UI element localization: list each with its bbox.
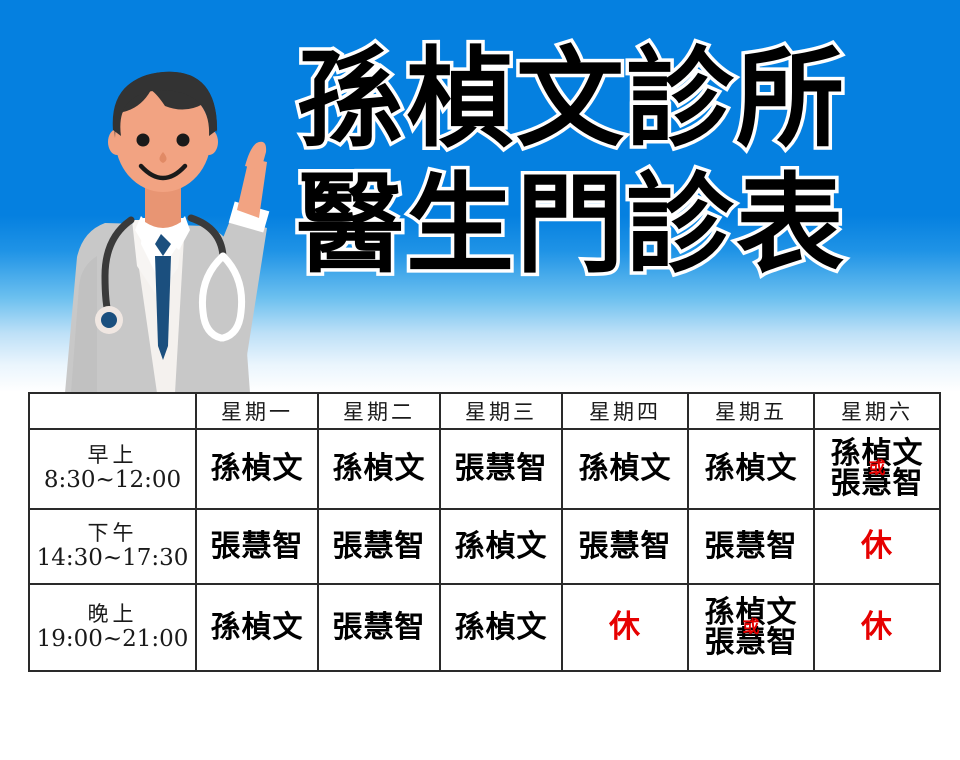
cell-morning-tue: 孫楨文 xyxy=(318,429,440,509)
poster-title: 孫楨文診所 孫楨文診所 醫生門診表 醫生門診表 xyxy=(296,46,936,280)
header-day-wed: 星期三 xyxy=(440,393,562,429)
cell-afternoon-tue: 張慧智 xyxy=(318,509,440,584)
cell-afternoon-wed: 孫楨文 xyxy=(440,509,562,584)
dual-name-group: 孫楨文 或 張慧智 xyxy=(831,438,924,500)
head-group xyxy=(108,72,218,192)
header-day-thu: 星期四 xyxy=(562,393,688,429)
period-label-night: 晚上 xyxy=(30,602,195,626)
cell-morning-fri: 孫楨文 xyxy=(688,429,814,509)
cell-night-mon: 孫楨文 xyxy=(196,584,318,671)
header-day-fri: 星期五 xyxy=(688,393,814,429)
stethoscope-chestpiece-inner xyxy=(101,312,117,328)
header-day-mon: 星期一 xyxy=(196,393,318,429)
title-line-1-text: 孫楨文診所 xyxy=(296,37,846,162)
title-line-2: 醫生門診表 醫生門診表 xyxy=(296,172,936,280)
cell-night-thu: 休 xyxy=(562,584,688,671)
cell-night-tue: 張慧智 xyxy=(318,584,440,671)
title-line-1: 孫楨文診所 孫楨文診所 xyxy=(296,46,936,154)
cell-morning-mon: 孫楨文 xyxy=(196,429,318,509)
cell-morning-thu: 孫楨文 xyxy=(562,429,688,509)
period-label-afternoon: 下午 xyxy=(30,521,195,545)
cell-morning-wed: 張慧智 xyxy=(440,429,562,509)
schedule-table: 星期一 星期二 星期三 星期四 星期五 星期六 早上 8:30~12:00 孫楨… xyxy=(28,392,941,672)
cell-morning-sat: 孫楨文 或 張慧智 xyxy=(814,429,940,509)
or-label: 或 xyxy=(743,619,760,636)
cell-afternoon-sat: 休 xyxy=(814,509,940,584)
period-cell-morning: 早上 8:30~12:00 xyxy=(29,429,196,509)
eye-right xyxy=(177,134,190,147)
table-row-afternoon: 下午 14:30~17:30 張慧智 張慧智 孫楨文 張慧智 張慧智 休 xyxy=(29,509,940,584)
or-label: 或 xyxy=(869,461,886,478)
cell-night-sat: 休 xyxy=(814,584,940,671)
period-time-morning: 8:30~12:00 xyxy=(30,467,195,495)
dual-name-group: 孫楨文 或 張慧智 xyxy=(705,597,798,659)
period-time-afternoon: 14:30~17:30 xyxy=(30,545,195,573)
cell-afternoon-fri: 張慧智 xyxy=(688,509,814,584)
cell-afternoon-thu: 張慧智 xyxy=(562,509,688,584)
period-time-night: 19:00~21:00 xyxy=(30,626,195,654)
rest-label: 休 xyxy=(861,528,893,564)
period-cell-afternoon: 下午 14:30~17:30 xyxy=(29,509,196,584)
table-row-morning: 早上 8:30~12:00 孫楨文 孫楨文 張慧智 孫楨文 孫楨文 孫楨文 或 … xyxy=(29,429,940,509)
header-corner-blank xyxy=(29,393,196,429)
schedule-table-wrapper: 星期一 星期二 星期三 星期四 星期五 星期六 早上 8:30~12:00 孫楨… xyxy=(28,392,932,672)
rest-label: 休 xyxy=(861,609,893,645)
poster-canvas: 孫楨文診所 孫楨文診所 醫生門診表 醫生門診表 星期一 星期二 星期三 xyxy=(0,0,960,760)
header-day-sat: 星期六 xyxy=(814,393,940,429)
title-line-2-text: 醫生門診表 xyxy=(296,163,846,288)
eye-left xyxy=(137,134,150,147)
doctor-illustration xyxy=(35,38,335,393)
table-row-night: 晚上 19:00~21:00 孫楨文 張慧智 孫楨文 休 孫楨文 或 張慧智 xyxy=(29,584,940,671)
period-cell-night: 晚上 19:00~21:00 xyxy=(29,584,196,671)
cell-night-fri: 孫楨文 或 張慧智 xyxy=(688,584,814,671)
rest-label: 休 xyxy=(609,609,641,645)
cell-night-wed: 孫楨文 xyxy=(440,584,562,671)
header-day-tue: 星期二 xyxy=(318,393,440,429)
table-header-row: 星期一 星期二 星期三 星期四 星期五 星期六 xyxy=(29,393,940,429)
cell-afternoon-mon: 張慧智 xyxy=(196,509,318,584)
period-label-morning: 早上 xyxy=(30,443,195,467)
